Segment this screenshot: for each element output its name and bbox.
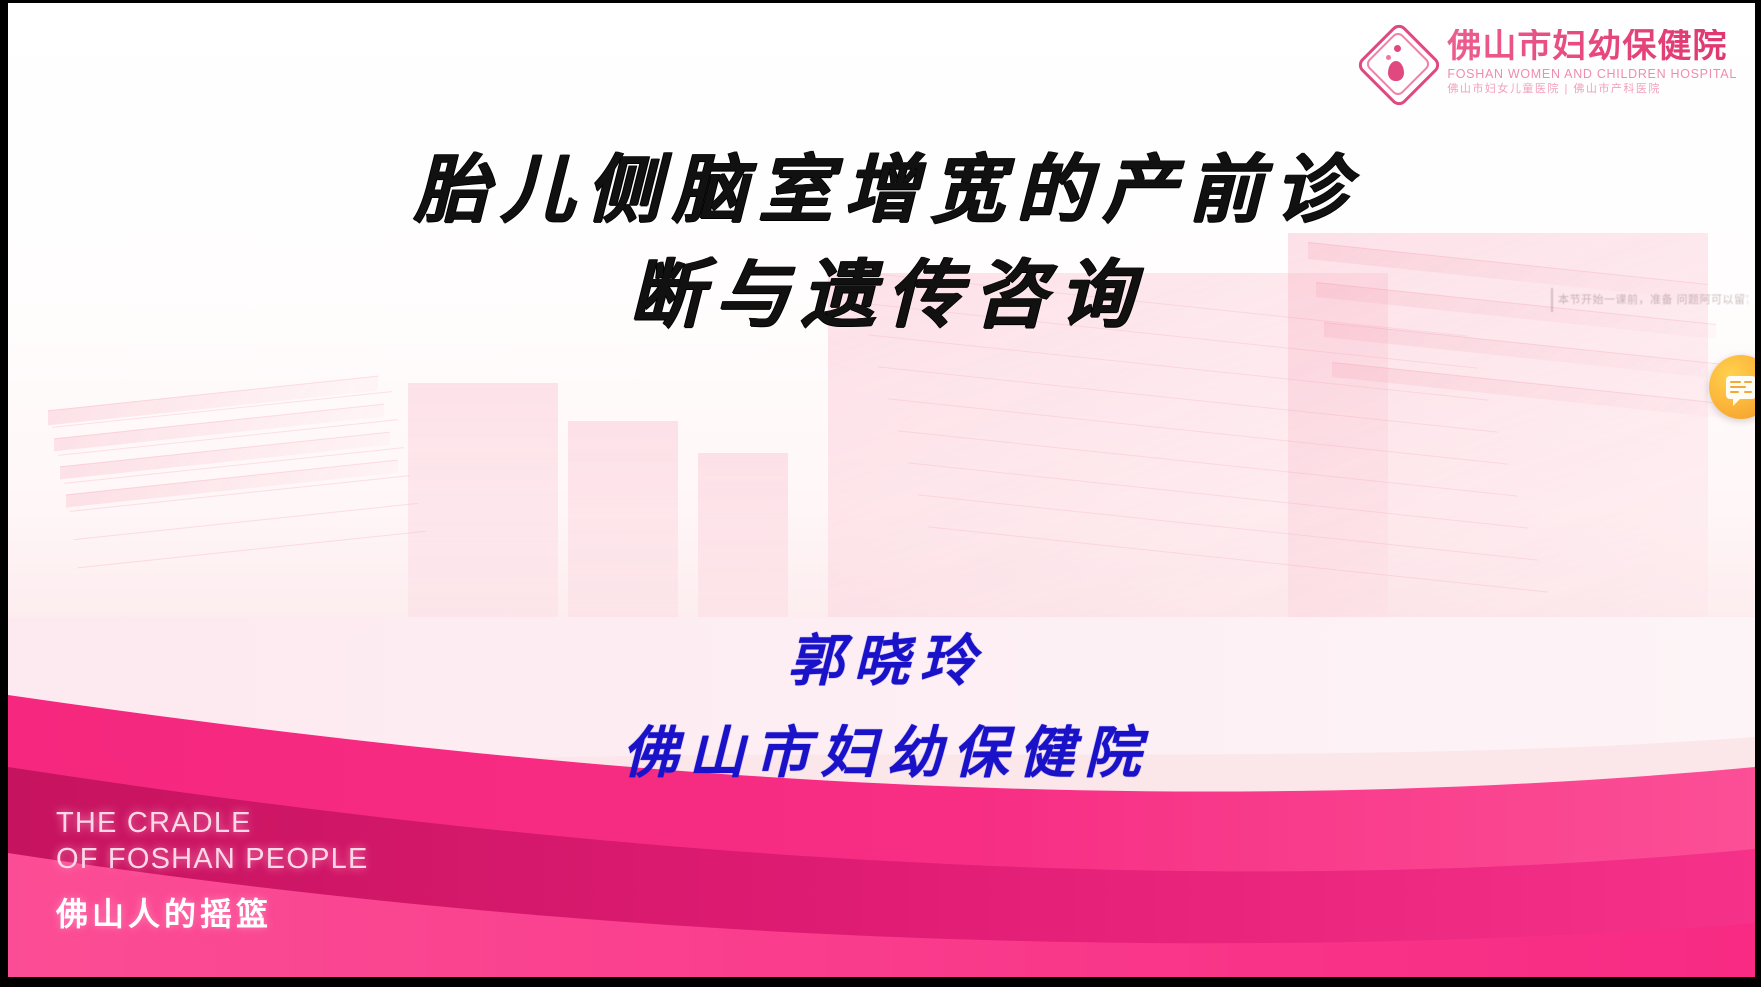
slide-title-line-2: 断与遗传咨询: [8, 243, 1755, 348]
presentation-slide: 本节开始一课前，准备 问题阿可以留言 佛山市妇幼保健院 FOSHAN WOMEN…: [8, 3, 1755, 977]
hospital-logo: 佛山市妇幼保健院 FOSHAN WOMEN AND CHILDREN HOSPI…: [1359, 25, 1737, 99]
chat-bubble-icon[interactable]: [1709, 355, 1755, 419]
slogan-en-line-2: OF FOSHAN PEOPLE: [56, 841, 369, 877]
hospital-emblem-icon: [1359, 25, 1433, 99]
logo-name-cn: 佛山市妇幼保健院: [1447, 29, 1737, 63]
slogan-cn: 佛山人的摇篮: [56, 889, 369, 935]
slide-title-line-1: 胎儿侧脑室增宽的产前诊: [8, 138, 1755, 243]
slide-title: 胎儿侧脑室增宽的产前诊 断与遗传咨询: [8, 138, 1755, 348]
logo-subtitle: 佛山市妇女儿童医院 | 佛山市产科医院: [1447, 84, 1737, 95]
speaker-block: 郭晓玲 佛山市妇幼保健院: [8, 631, 1755, 784]
logo-name-en: FOSHAN WOMEN AND CHILDREN HOSPITAL: [1447, 68, 1737, 81]
slogan-en-line-1: THE CRADLE: [56, 805, 369, 841]
video-player-stage: 本节开始一课前，准备 问题阿可以留言 佛山市妇幼保健院 FOSHAN WOMEN…: [0, 0, 1761, 987]
speaker-organization: 佛山市妇幼保健院: [8, 723, 1755, 785]
letterbox-left: [0, 0, 8, 987]
speaker-name: 郭晓玲: [8, 631, 1755, 693]
footer-slogan: THE CRADLE OF FOSHAN PEOPLE 佛山人的摇篮: [56, 805, 369, 936]
letterbox-top: [0, 0, 1761, 3]
letterbox-right: [1755, 0, 1761, 987]
letterbox-bottom: [0, 977, 1761, 987]
